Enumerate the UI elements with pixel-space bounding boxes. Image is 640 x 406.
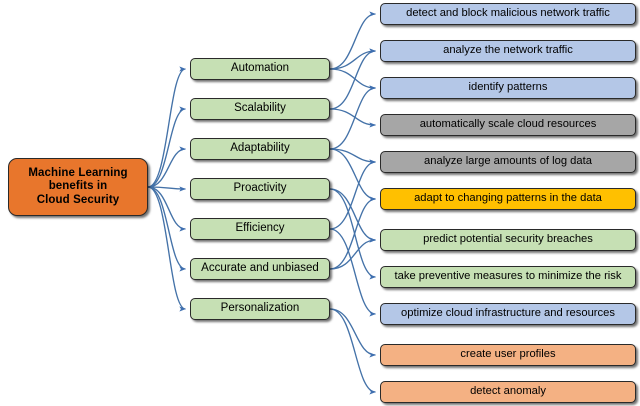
branch-node-b5-label: Efficiency xyxy=(235,222,284,236)
leaf-node-l10-label: create user profiles xyxy=(460,348,555,361)
leaf-node-l4-label: automatically scale cloud resources xyxy=(420,118,597,131)
edge-b7-to-l10 xyxy=(330,309,376,355)
leaf-node-l3-label: identify patterns xyxy=(469,81,548,94)
edge-b1-to-l1 xyxy=(330,14,376,69)
leaf-node-l11-label: detect anomaly xyxy=(470,385,546,398)
leaf-node-l6[interactable]: adapt to changing patterns in the data xyxy=(380,188,636,210)
edge-b1-to-l2 xyxy=(330,51,376,69)
leaf-node-l10[interactable]: create user profiles xyxy=(380,344,636,366)
edge-root-to-b2 xyxy=(148,109,186,187)
leaf-node-l1[interactable]: detect and block malicious network traff… xyxy=(380,3,636,25)
leaf-node-l2[interactable]: analyze the network traffic xyxy=(380,40,636,62)
branch-node-b1[interactable]: Automation xyxy=(190,58,330,80)
edge-b5-to-l5 xyxy=(330,162,376,229)
edge-b6-to-l6 xyxy=(330,199,376,269)
leaf-node-l5[interactable]: analyze large amounts of log data xyxy=(380,151,636,173)
root-title-line: Machine Learning xyxy=(13,167,143,181)
edge-b3-to-l3 xyxy=(330,88,376,149)
leaf-node-l1-label: detect and block malicious network traff… xyxy=(406,7,610,20)
edge-b5-to-l9 xyxy=(330,229,376,314)
edge-b3-to-l6 xyxy=(330,149,376,199)
edge-b2-to-l2 xyxy=(330,51,376,109)
leaf-node-l4[interactable]: automatically scale cloud resources xyxy=(380,114,636,136)
branch-node-b7-label: Personalization xyxy=(221,302,300,316)
branch-node-b6[interactable]: Accurate and unbiased xyxy=(190,258,330,280)
branch-node-b4[interactable]: Proactivity xyxy=(190,178,330,200)
branch-node-b7[interactable]: Personalization xyxy=(190,298,330,320)
root-title-line: benefits in xyxy=(13,180,143,194)
leaf-node-l7-label: predict potential security breaches xyxy=(423,233,593,246)
root-node-machine-learning-benefits[interactable]: Machine Learningbenefits inCloud Securit… xyxy=(8,158,148,216)
root-title-line: Cloud Security xyxy=(13,194,143,208)
edge-root-to-b1 xyxy=(148,69,186,187)
edge-root-to-b6 xyxy=(148,187,186,269)
leaf-node-l8-label: take preventive measures to minimize the… xyxy=(395,270,622,283)
leaf-node-l7[interactable]: predict potential security breaches xyxy=(380,229,636,251)
branch-node-b1-label: Automation xyxy=(231,62,289,76)
leaf-node-l9[interactable]: optimize cloud infrastructure and resour… xyxy=(380,303,636,325)
branch-node-b4-label: Proactivity xyxy=(233,182,286,196)
leaf-node-l11[interactable]: detect anomaly xyxy=(380,381,636,403)
edge-b6-to-l7 xyxy=(330,240,376,269)
branch-node-b2[interactable]: Scalability xyxy=(190,98,330,120)
leaf-node-l9-label: optimize cloud infrastructure and resour… xyxy=(401,307,615,320)
edge-root-to-b3 xyxy=(148,149,186,187)
branch-node-b5[interactable]: Efficiency xyxy=(190,218,330,240)
edge-root-to-b5 xyxy=(148,187,186,229)
edge-b3-to-l5 xyxy=(330,149,376,162)
leaf-node-l2-label: analyze the network traffic xyxy=(443,44,573,57)
leaf-node-l8[interactable]: take preventive measures to minimize the… xyxy=(380,266,636,288)
leaf-node-l3[interactable]: identify patterns xyxy=(380,77,636,99)
branch-node-b3[interactable]: Adaptability xyxy=(190,138,330,160)
branch-node-b6-label: Accurate and unbiased xyxy=(201,262,319,276)
branch-node-b3-label: Adaptability xyxy=(230,142,289,156)
edge-b4-to-l7 xyxy=(330,189,376,240)
edge-b2-to-l4 xyxy=(330,109,376,125)
leaf-node-l6-label: adapt to changing patterns in the data xyxy=(414,192,602,205)
edge-b1-to-l3 xyxy=(330,69,376,88)
leaf-node-l5-label: analyze large amounts of log data xyxy=(424,155,592,168)
edge-root-to-b4 xyxy=(148,187,186,189)
branch-node-b2-label: Scalability xyxy=(234,102,286,116)
edge-b7-to-l11 xyxy=(330,309,376,392)
mindmap-canvas: Machine Learningbenefits inCloud Securit… xyxy=(0,0,640,406)
edge-b4-to-l8 xyxy=(330,189,376,277)
edge-root-to-b7 xyxy=(148,187,186,309)
